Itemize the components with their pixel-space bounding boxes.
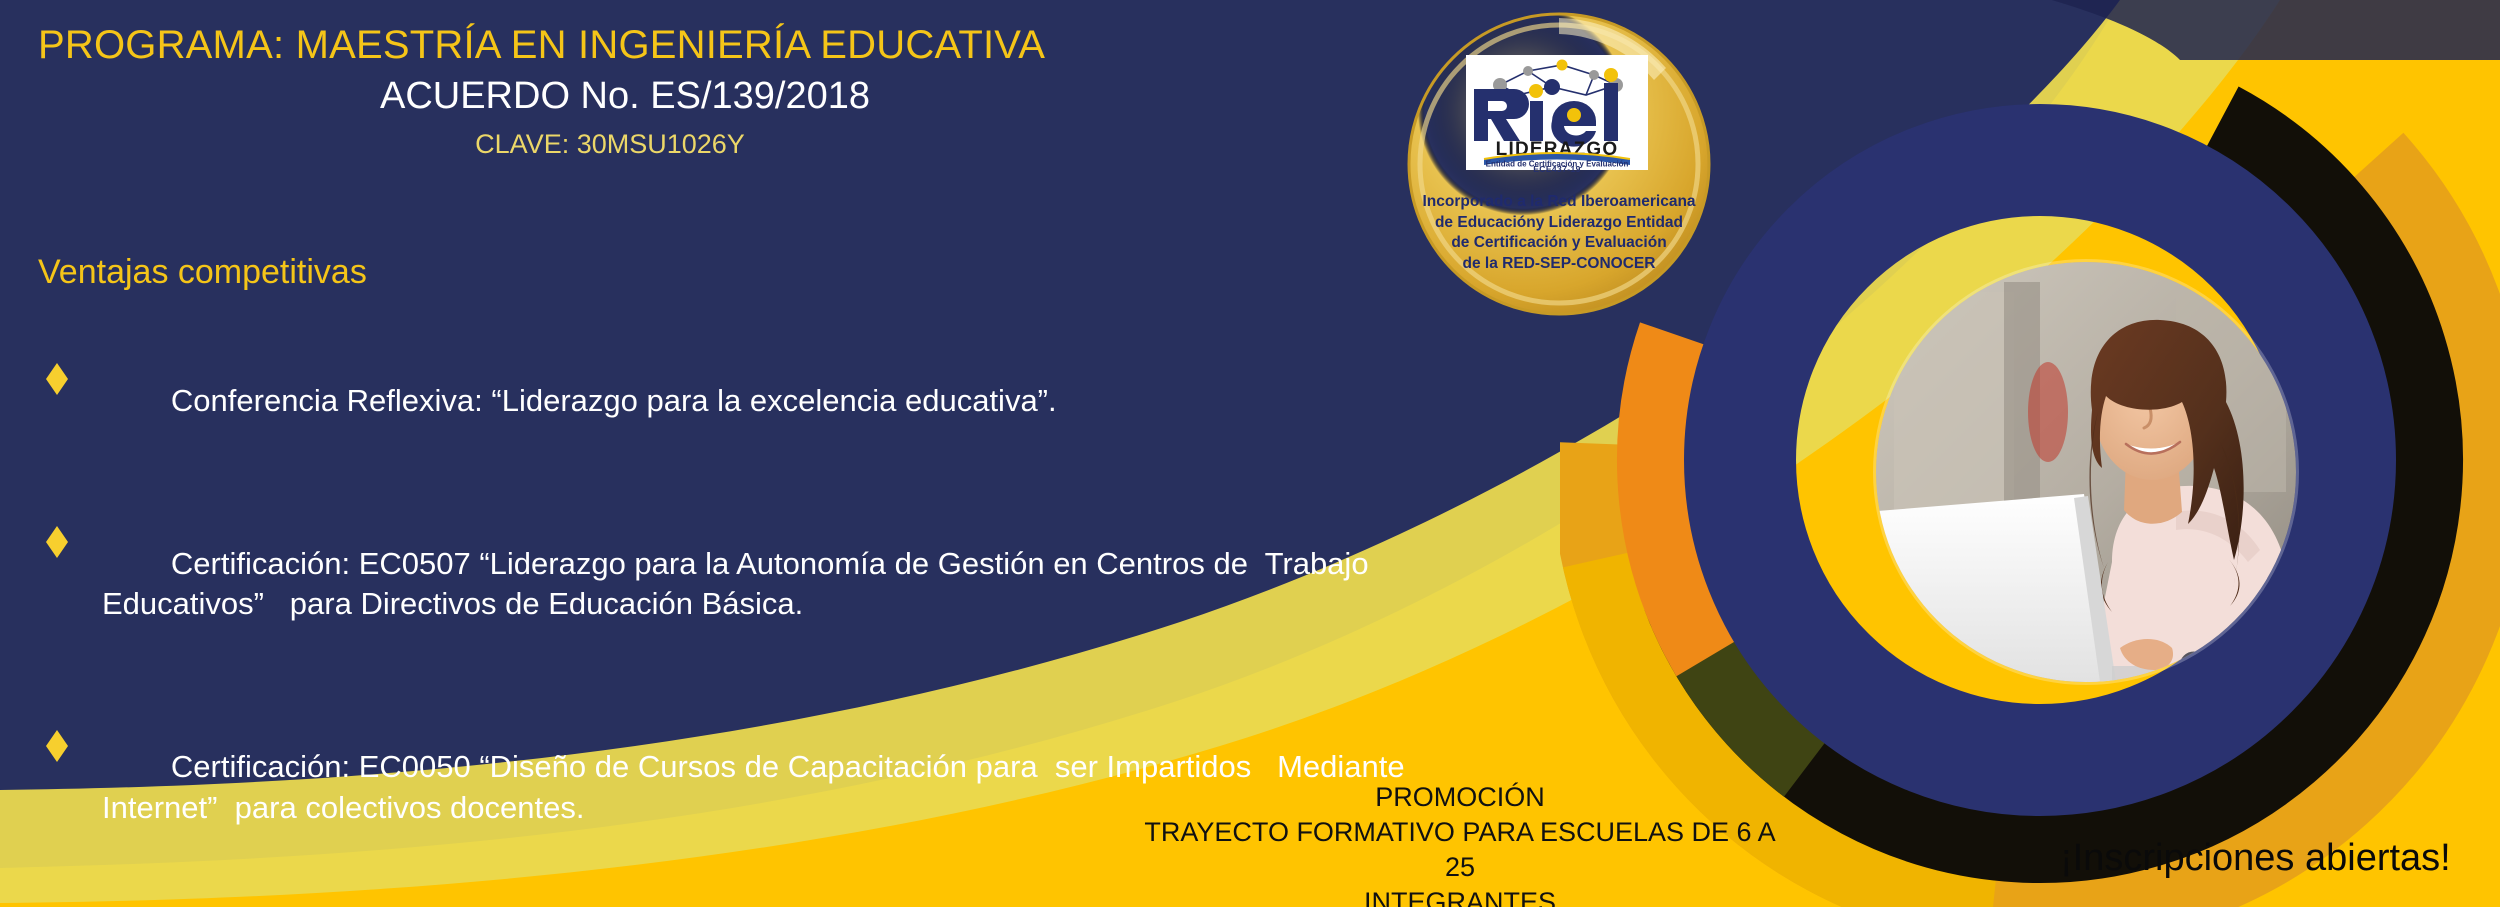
program-title: PROGRAMA: MAESTRÍA EN INGENIERÍA EDUCATI… [0,22,1420,69]
promotion-heading: PROMOCIÓN [1130,780,1790,815]
riel-logo-code: ECE437-19 [1466,164,1648,174]
diamond-bullet-icon [46,303,68,337]
promotion-detail-cont: INTEGRANTES [1130,885,1790,907]
advantages-title: Ventajas competitivas [38,250,1598,294]
diamond-bullet-icon [46,873,68,907]
riel-logo-artwork: LIDERAZGO Entidad de Certificación y Eva… [1466,55,1648,170]
certification-seal: LIDERAZGO Entidad de Certificación y Eva… [1404,12,1714,322]
header-block: PROGRAMA: MAESTRÍA EN INGENIERÍA EDUCATI… [0,22,1420,165]
seal-caption: Incorporado a la Red Iberoamericana de E… [1414,192,1704,274]
list-item-label: Certificación: EC0507 “Liderazgo para la… [102,546,1369,621]
seal-caption-line-2: de Educacióny Liderazgo Entidad [1414,213,1704,234]
seal-caption-line-3: de Certificación y Evaluación [1414,233,1704,254]
clave-code: CLAVE: 30MSU1026Y [0,124,1420,165]
agreement-number: ACUERDO No. ES/139/2018 [0,69,1420,124]
promotion-block: PROMOCIÓN TRAYECTO FORMATIVO PARA ESCUEL… [1130,780,1790,907]
list-item-label: Conferencia Reflexiva: “Liderazgo para l… [171,383,1057,418]
list-item: Conferencia Reflexiva: “Liderazgo para l… [38,300,1598,461]
enrollment-cta[interactable]: ¡Inscripciones abiertas! [2060,838,2480,880]
promotional-banner: PROGRAMA: MAESTRÍA EN INGENIERÍA EDUCATI… [0,0,2500,907]
student-photo-illustration [1876,262,2296,682]
riel-logo: LIDERAZGO Entidad de Certificación y Eva… [1466,55,1648,170]
seal-caption-line-4: de la RED-SEP-CONOCER [1414,254,1704,275]
diamond-bullet-icon [46,670,68,704]
student-photo [1876,262,2296,682]
diamond-bullet-icon [46,466,68,500]
seal-caption-line-1: Incorporado a la Red Iberoamericana [1414,192,1704,213]
list-item: Certificación: EC0507 “Liderazgo para la… [38,463,1598,664]
promotion-detail: TRAYECTO FORMATIVO PARA ESCUELAS DE 6 A … [1130,815,1790,885]
